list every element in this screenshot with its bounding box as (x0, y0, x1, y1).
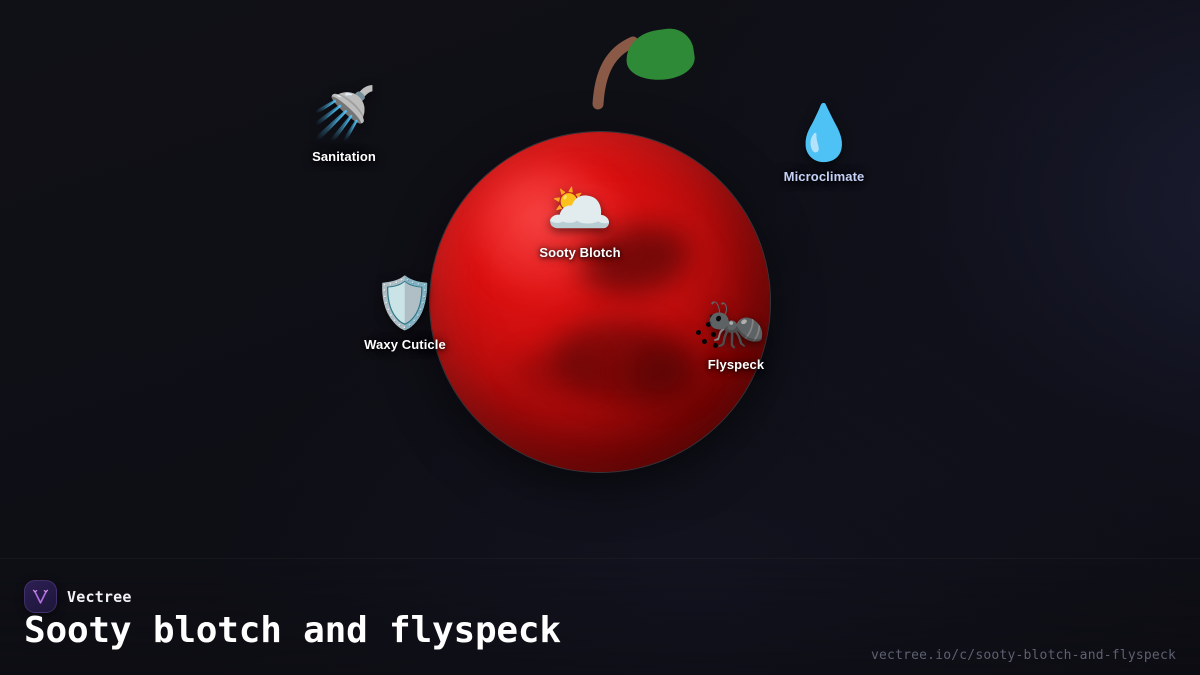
ant-icon: 🐜 (651, 300, 821, 348)
marker-label-sanitation: Sanitation (259, 149, 429, 164)
cloud-icon: 🌥️ (495, 182, 665, 236)
marker-waxy-cuticle[interactable]: 🛡️ Waxy Cuticle (320, 278, 490, 352)
apple-stem-group (580, 18, 710, 118)
page-url: vectree.io/c/sooty-blotch-and-flyspeck (871, 648, 1176, 663)
marker-flyspeck[interactable]: 🐜 Flyspeck (651, 300, 821, 372)
blotch-patch (512, 350, 598, 394)
marker-label-flyspeck: Flyspeck (651, 357, 821, 372)
marker-label-waxy-cuticle: Waxy Cuticle (320, 337, 490, 352)
water-droplet-icon: 💧 (739, 106, 909, 160)
vectree-logo-icon (24, 580, 57, 613)
shield-icon: 🛡️ (320, 278, 490, 328)
vectree-glyph (31, 587, 50, 606)
brand[interactable]: Vectree (24, 580, 132, 613)
marker-microclimate[interactable]: 💧 Microclimate (739, 106, 909, 184)
brand-name: Vectree (67, 588, 132, 606)
page-title: Sooty blotch and flyspeck (24, 610, 561, 651)
shower-icon: 🚿 (259, 88, 429, 140)
stem-icon (580, 18, 710, 118)
footer-bar: Vectree Sooty blotch and flyspeck vectre… (0, 558, 1200, 675)
screenshot-root: 🚿 Sanitation 💧 Microclimate 🛡️ Waxy Cuti… (0, 0, 1200, 675)
marker-label-microclimate: Microclimate (739, 169, 909, 184)
leaf-icon (623, 26, 697, 85)
marker-label-sooty-blotch: Sooty Blotch (495, 245, 665, 260)
marker-sanitation[interactable]: 🚿 Sanitation (259, 88, 429, 164)
marker-sooty-blotch[interactable]: 🌥️ Sooty Blotch (495, 182, 665, 260)
illustration-canvas: 🚿 Sanitation 💧 Microclimate 🛡️ Waxy Cuti… (0, 0, 1200, 558)
